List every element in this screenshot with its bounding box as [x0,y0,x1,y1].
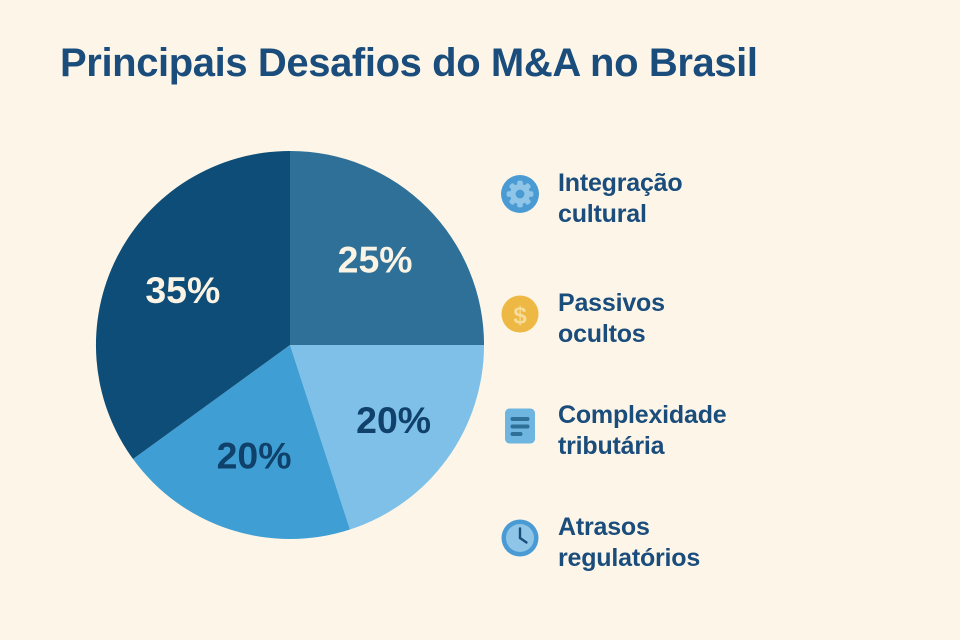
legend-item-label: Integração cultural [558,168,940,229]
pie-slice-label: 20% [217,435,292,477]
legend-item-integracao-cultural[interactable]: Integração cultural [500,168,940,229]
infographic-root: Principais Desafios do M&A no Brasil 25%… [0,0,960,640]
legend-item-label: Atrasos regulatórios [558,512,940,573]
pie-slice-group [96,151,484,539]
document-lines-icon [500,406,540,446]
pie-slice-label: 20% [356,399,431,441]
dollar-coin-icon: $ [500,294,540,334]
legend-item-passivos-ocultos[interactable]: $ Passivos ocultos [500,288,940,349]
clock-icon [500,518,540,558]
pie-chart: 25%20%20%35% [0,0,520,640]
legend-item-label: Complexidade tributária [558,400,940,461]
legend-item-complexidade-tributaria[interactable]: Complexidade tributária [500,400,940,461]
gear-icon [500,174,540,214]
pie-chart-svg: 25%20%20%35% [93,148,487,542]
svg-text:$: $ [513,303,527,330]
pie-slice-label: 25% [338,239,413,281]
legend-item-label: Passivos ocultos [558,288,940,349]
pie-slice-label: 35% [145,269,220,311]
legend-item-atrasos-regulatorios[interactable]: Atrasos regulatórios [500,512,940,573]
